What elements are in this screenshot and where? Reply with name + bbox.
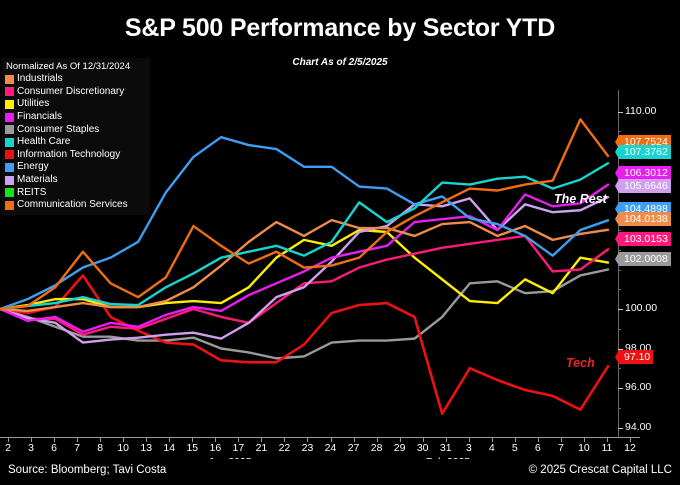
- legend-title: Normalized As Of 12/31/2024: [6, 61, 147, 72]
- annotation-the-rest: The Rest: [554, 192, 607, 206]
- footer-source: Source: Bloomberg; Tavi Costa: [8, 464, 166, 476]
- y-axis-minor-tick: [618, 408, 621, 409]
- price-tag-value: 106.3012: [624, 167, 668, 179]
- price-tag: 104.0138: [619, 212, 671, 226]
- x-axis-tick-label: 11: [602, 442, 613, 454]
- legend-swatch-icon: [5, 188, 14, 197]
- price-tag: 106.3012: [619, 166, 671, 180]
- price-tag: 105.6646: [619, 179, 671, 193]
- x-axis-tick-label: 13: [140, 442, 152, 454]
- x-axis-tick-label: 15: [186, 442, 198, 454]
- y-axis-tick-label: 96.00: [625, 382, 651, 393]
- x-axis-tick-label: 8: [97, 442, 103, 454]
- x-axis-tick-label: 7: [74, 442, 80, 454]
- x-axis-tick-label: 27: [348, 442, 360, 454]
- y-axis-tick-label: 110.00: [625, 106, 656, 117]
- x-axis-tick-label: 31: [440, 442, 452, 454]
- x-axis-tick-label: 2: [5, 442, 11, 454]
- legend-item[interactable]: Financials: [5, 111, 147, 124]
- legend-swatch-icon: [5, 87, 14, 96]
- legend-item[interactable]: REITS: [5, 186, 147, 199]
- price-tag: 107.3762: [619, 145, 671, 159]
- annotation-tech: Tech: [566, 356, 595, 370]
- legend-swatch-icon: [5, 100, 14, 109]
- price-tag-value: 102.0008: [624, 253, 668, 265]
- legend-item-label: Industrials: [17, 73, 63, 85]
- legend-item[interactable]: Industrials: [5, 73, 147, 86]
- x-axis-tick-label: 10: [117, 442, 129, 454]
- price-tag-value: 97.10: [624, 351, 650, 363]
- legend-swatch-icon: [5, 163, 14, 172]
- y-axis-minor-tick: [618, 131, 621, 132]
- y-axis-minor-tick: [618, 230, 621, 231]
- legend-swatch-icon: [5, 176, 14, 185]
- x-axis-tick-label: 14: [163, 442, 175, 454]
- x-axis-tick-label: 24: [325, 442, 337, 454]
- y-axis-tick: [618, 112, 623, 113]
- price-tag-value: 104.0138: [624, 213, 668, 225]
- y-axis-minor-tick: [618, 368, 621, 369]
- legend-item-label: Communication Services: [17, 199, 128, 211]
- price-tag-value: 105.6646: [624, 180, 668, 192]
- x-axis-tick-label: 16: [209, 442, 221, 454]
- y-axis-minor-tick: [618, 289, 621, 290]
- legend-item[interactable]: Health Care: [5, 136, 147, 149]
- x-axis-tick-label: 21: [256, 442, 268, 454]
- legend-item-label: Consumer Discretionary: [17, 86, 124, 98]
- y-axis-tick: [618, 428, 623, 429]
- legend-item[interactable]: Consumer Staples: [5, 123, 147, 136]
- legend-item[interactable]: Communication Services: [5, 199, 147, 212]
- legend-item-label: REITS: [17, 187, 46, 199]
- price-tag-value: 107.3762: [624, 146, 668, 158]
- x-axis-tick-label: 7: [558, 442, 564, 454]
- series-line: [0, 197, 608, 342]
- legend-item[interactable]: Information Technology: [5, 149, 147, 162]
- x-axis-tick-label: 3: [28, 442, 34, 454]
- legend-item-label: Health Care: [17, 136, 70, 148]
- y-axis-minor-tick: [618, 270, 621, 271]
- x-axis-tick-label: 12: [624, 442, 636, 454]
- footer-copyright: © 2025 Crescat Capital LLC: [529, 464, 672, 476]
- y-axis-minor-tick: [618, 250, 621, 251]
- legend-item-label: Information Technology: [17, 149, 120, 161]
- legend-item[interactable]: Energy: [5, 161, 147, 174]
- x-axis-tick-label: 17: [233, 442, 245, 454]
- legend-item-label: Materials: [17, 174, 58, 186]
- legend-item-label: Energy: [17, 161, 49, 173]
- legend-swatch-icon: [5, 113, 14, 122]
- series-line: [0, 230, 608, 309]
- legend-item[interactable]: Utilities: [5, 98, 147, 111]
- x-axis-tick-label: 28: [371, 442, 383, 454]
- x-axis-tick-label: 6: [51, 442, 57, 454]
- footer: Source: Bloomberg; Tavi Costa © 2025 Cre…: [0, 459, 680, 485]
- x-axis-tick-label: 10: [578, 442, 590, 454]
- y-axis-tick: [618, 309, 623, 310]
- price-tag-value: 103.0153: [624, 233, 668, 245]
- y-axis-tick-label: 94.00: [625, 422, 651, 433]
- y-axis-tick: [618, 388, 623, 389]
- chart-root: S&P 500 Performance by Sector YTD Chart …: [0, 0, 680, 485]
- legend-item-label: Consumer Staples: [17, 124, 99, 136]
- y-axis-tick-label: 100.00: [625, 303, 657, 314]
- legend-item[interactable]: Materials: [5, 174, 147, 187]
- x-axis-tick-label: 22: [279, 442, 291, 454]
- x-axis-tick-label: 4: [489, 442, 495, 454]
- legend-swatch-icon: [5, 75, 14, 84]
- legend-items: IndustrialsConsumer DiscretionaryUtiliti…: [5, 73, 147, 212]
- legend-swatch-icon: [5, 150, 14, 159]
- legend-swatch-icon: [5, 125, 14, 134]
- x-axis-tick-label: 23: [302, 442, 314, 454]
- price-tag: 102.0008: [619, 252, 671, 266]
- y-axis-minor-tick: [618, 329, 621, 330]
- x-axis-tick-label: 5: [512, 442, 518, 454]
- x-axis-tick-label: 3: [466, 442, 472, 454]
- x-axis-tick-label: 29: [394, 442, 406, 454]
- legend-swatch-icon: [5, 201, 14, 210]
- price-tag: 97.10: [619, 350, 653, 364]
- legend-item[interactable]: Consumer Discretionary: [5, 86, 147, 99]
- legend-swatch-icon: [5, 138, 14, 147]
- legend-item-label: Utilities: [17, 98, 49, 110]
- x-axis-line: [0, 437, 640, 438]
- x-axis-tick-label: 30: [417, 442, 429, 454]
- legend: Normalized As Of 12/31/2024 IndustrialsC…: [2, 58, 150, 215]
- series-line: [0, 275, 608, 413]
- page-title: S&P 500 Performance by Sector YTD: [0, 14, 680, 43]
- price-tag: 103.0153: [619, 232, 671, 246]
- legend-item-label: Financials: [17, 111, 62, 123]
- x-axis-tick-label: 6: [535, 442, 541, 454]
- y-axis: 94.0096.0098.00100.00110.00 107.7524107.…: [618, 80, 680, 440]
